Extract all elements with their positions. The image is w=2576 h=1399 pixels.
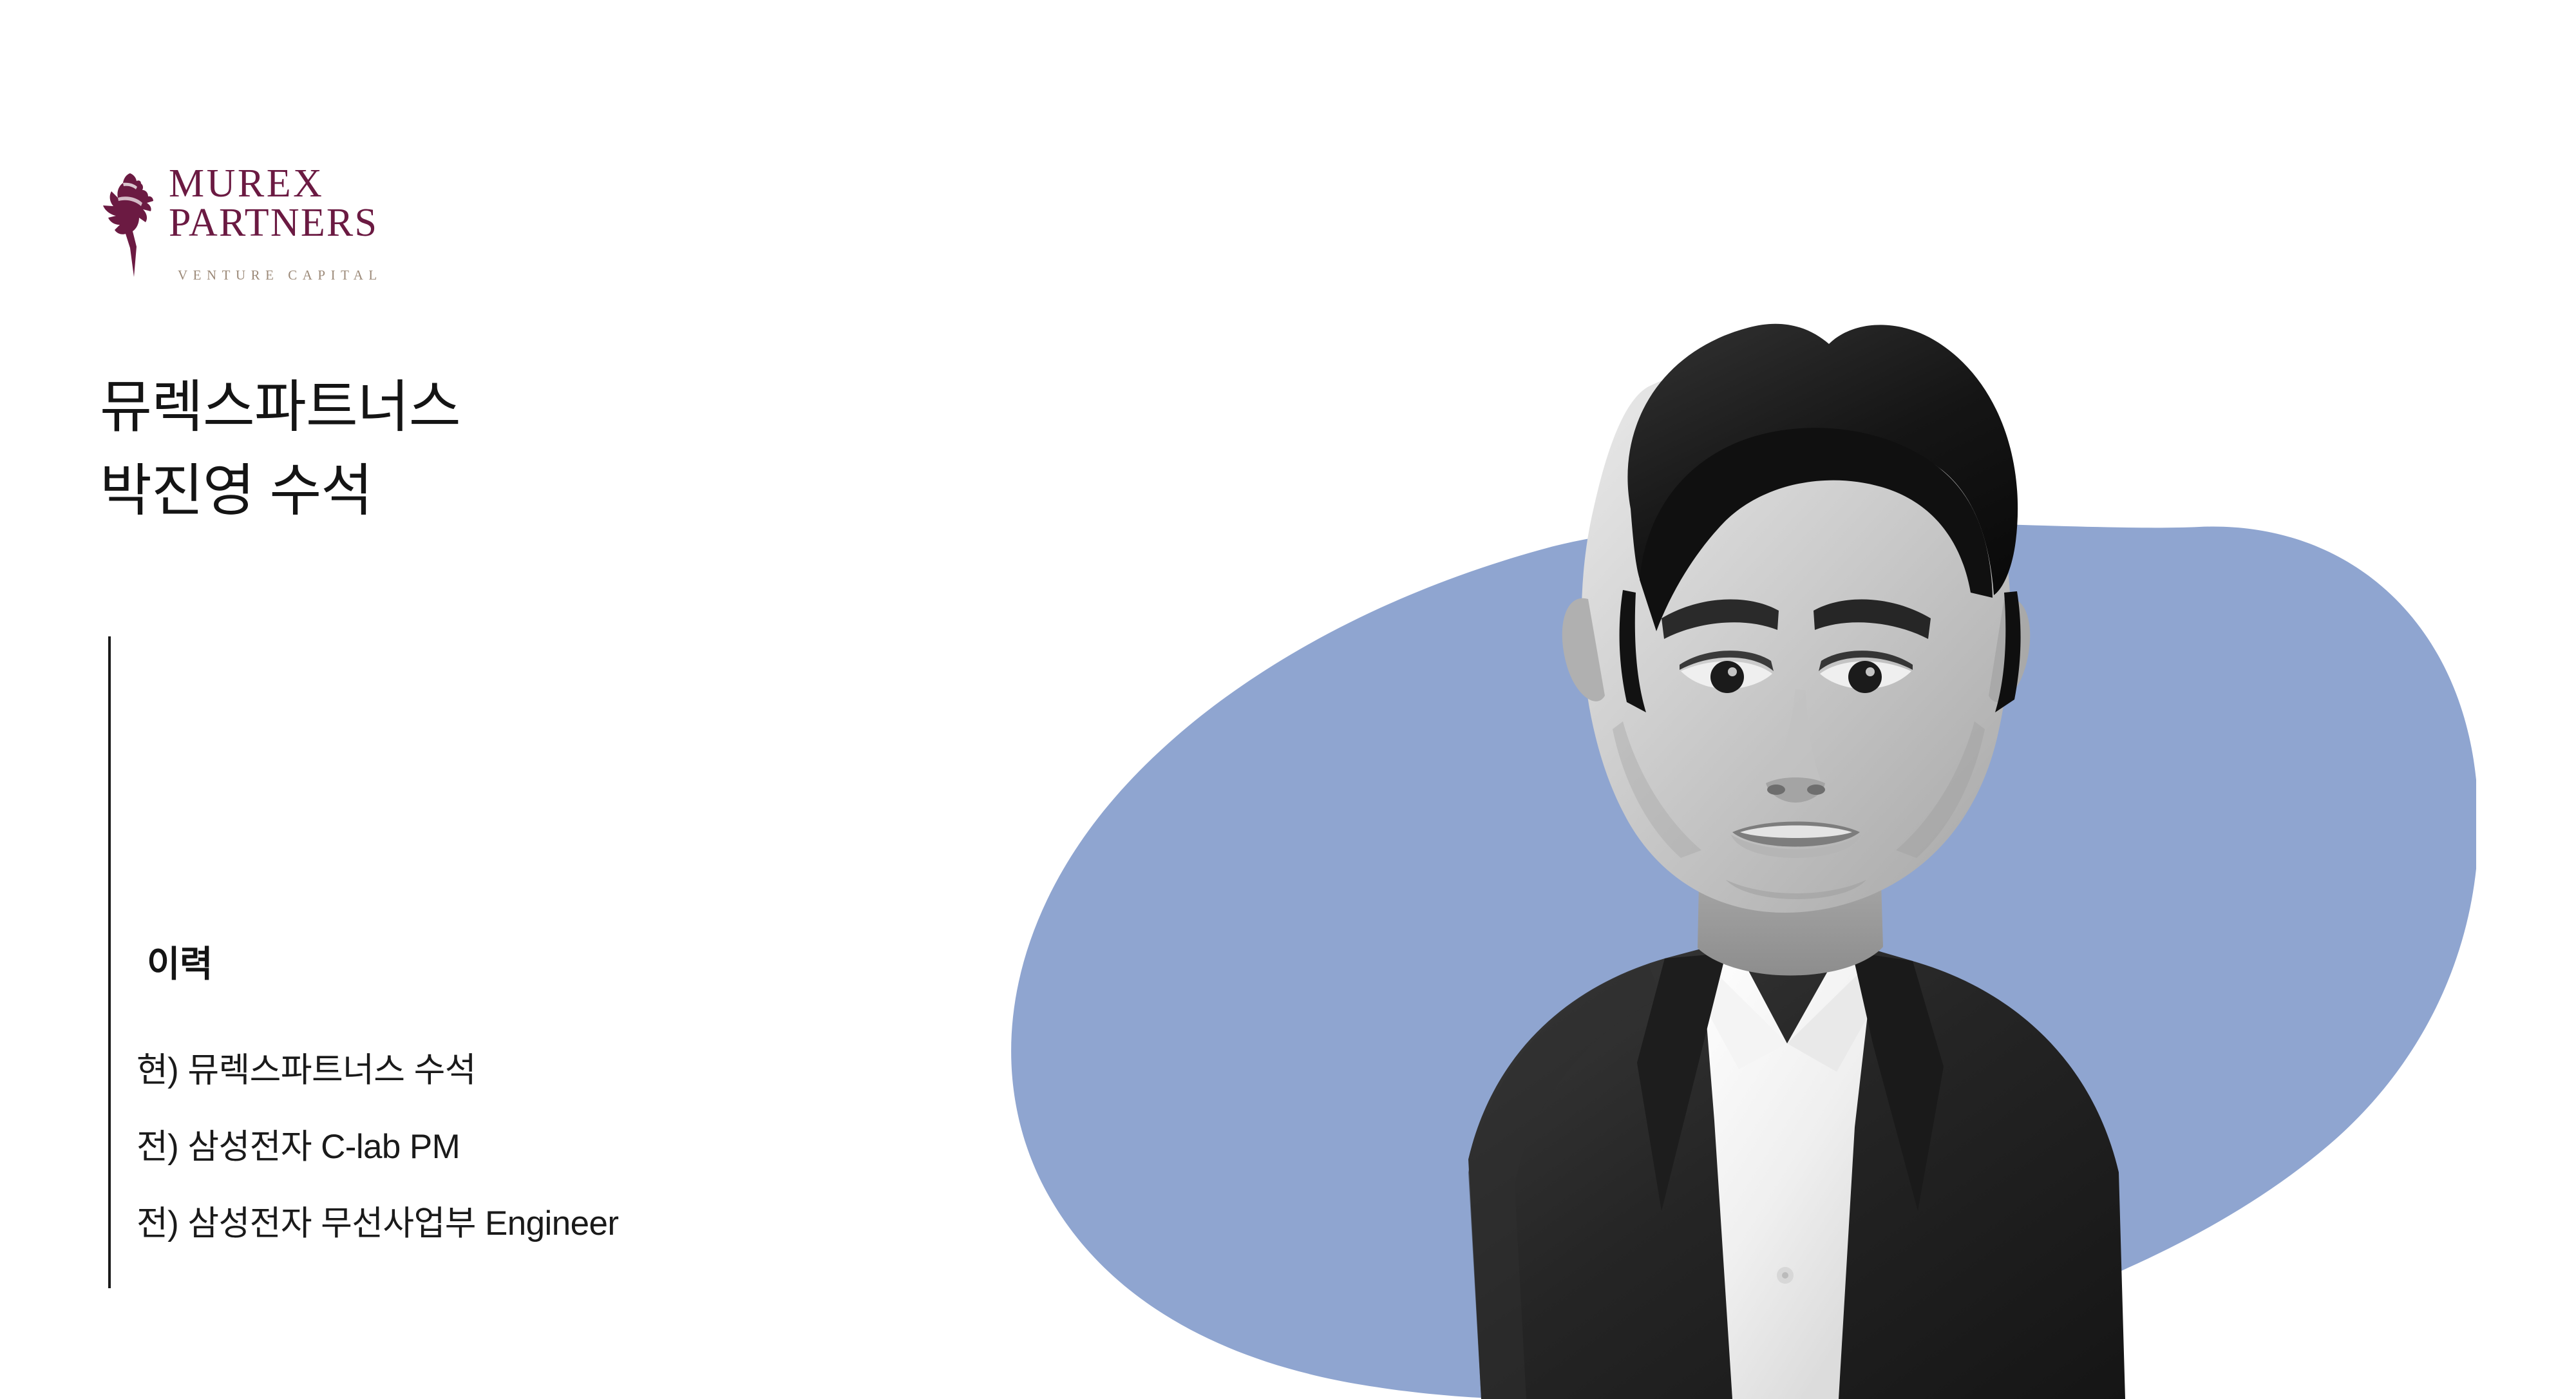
page-title: 뮤렉스파트너스 박진영 수석 (100, 379, 937, 519)
career-section-heading: 이력 (147, 935, 213, 987)
list-item: 전) 삼성전자 C-lab PM (137, 1130, 1038, 1164)
career-list: 현) 뮤렉스파트너스 수석 전) 삼성전자 C-lab PM 전) 삼성전자 무… (137, 1053, 1038, 1241)
logo-wordmark: MUREX PARTNERS (169, 164, 420, 243)
list-item: 전) 삼성전자 무선사업부 Engineer (137, 1206, 1038, 1241)
list-item: 현) 뮤렉스파트너스 수석 (137, 1053, 1038, 1087)
murex-shell-icon (97, 171, 161, 277)
murex-partners-logo: MUREX PARTNERS VENTURE CAPITAL (97, 164, 419, 303)
vertical-divider (108, 636, 111, 1288)
portrait-photo (1082, 206, 2370, 1399)
person-name-title: 박진영 수석 (100, 462, 937, 519)
logo-line-murex: MUREX (169, 164, 420, 204)
logo-line-partners: PARTNERS (169, 204, 420, 243)
company-name: 뮤렉스파트너스 (100, 379, 937, 435)
logo-subtitle: VENTURE CAPITAL (178, 267, 383, 283)
presentation-slide: MUREX PARTNERS VENTURE CAPITAL 뮤렉스파트너스 박… (0, 0, 2576, 1399)
